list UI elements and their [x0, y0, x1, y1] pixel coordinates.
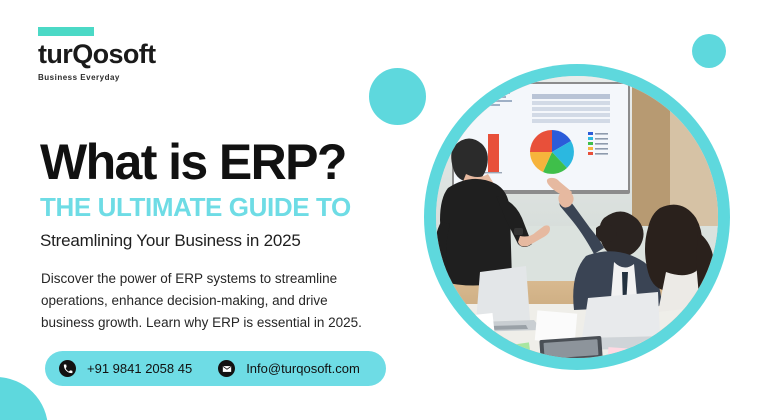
hero-photo-ring: [424, 64, 730, 370]
page-title: What is ERP?: [40, 136, 450, 189]
decorative-circle-bottom-left: [0, 377, 48, 420]
email-address: Info@turqosoft.com: [246, 361, 360, 376]
logo-tagline: Business Everyday: [38, 73, 218, 82]
page-tertiary-title: Streamlining Your Business in 2025: [40, 231, 450, 251]
erp-guide-banner: turQosoft Business Everyday What is ERP?…: [0, 0, 770, 420]
logo-wordmark: turQosoft: [38, 41, 218, 68]
contact-bar: +91 9841 2058 45 Info@turqosoft.com: [45, 351, 386, 386]
decorative-circle-top-right: [692, 34, 726, 68]
phone-number: +91 9841 2058 45: [87, 361, 192, 376]
envelope-icon: [218, 360, 235, 377]
logo-accent-bar: [38, 27, 94, 36]
hero-photo: [436, 76, 718, 358]
page-subtitle: THE ULTIMATE GUIDE TO: [40, 193, 450, 222]
description-text: Discover the power of ERP systems to str…: [41, 268, 371, 334]
contact-email[interactable]: Info@turqosoft.com: [218, 360, 360, 377]
contact-phone[interactable]: +91 9841 2058 45: [59, 360, 192, 377]
phone-icon: [59, 360, 76, 377]
decorative-circle-mid: [369, 68, 426, 125]
headline-block: What is ERP? THE ULTIMATE GUIDE TO Strea…: [40, 136, 450, 251]
brand-logo[interactable]: turQosoft Business Everyday: [38, 27, 218, 82]
